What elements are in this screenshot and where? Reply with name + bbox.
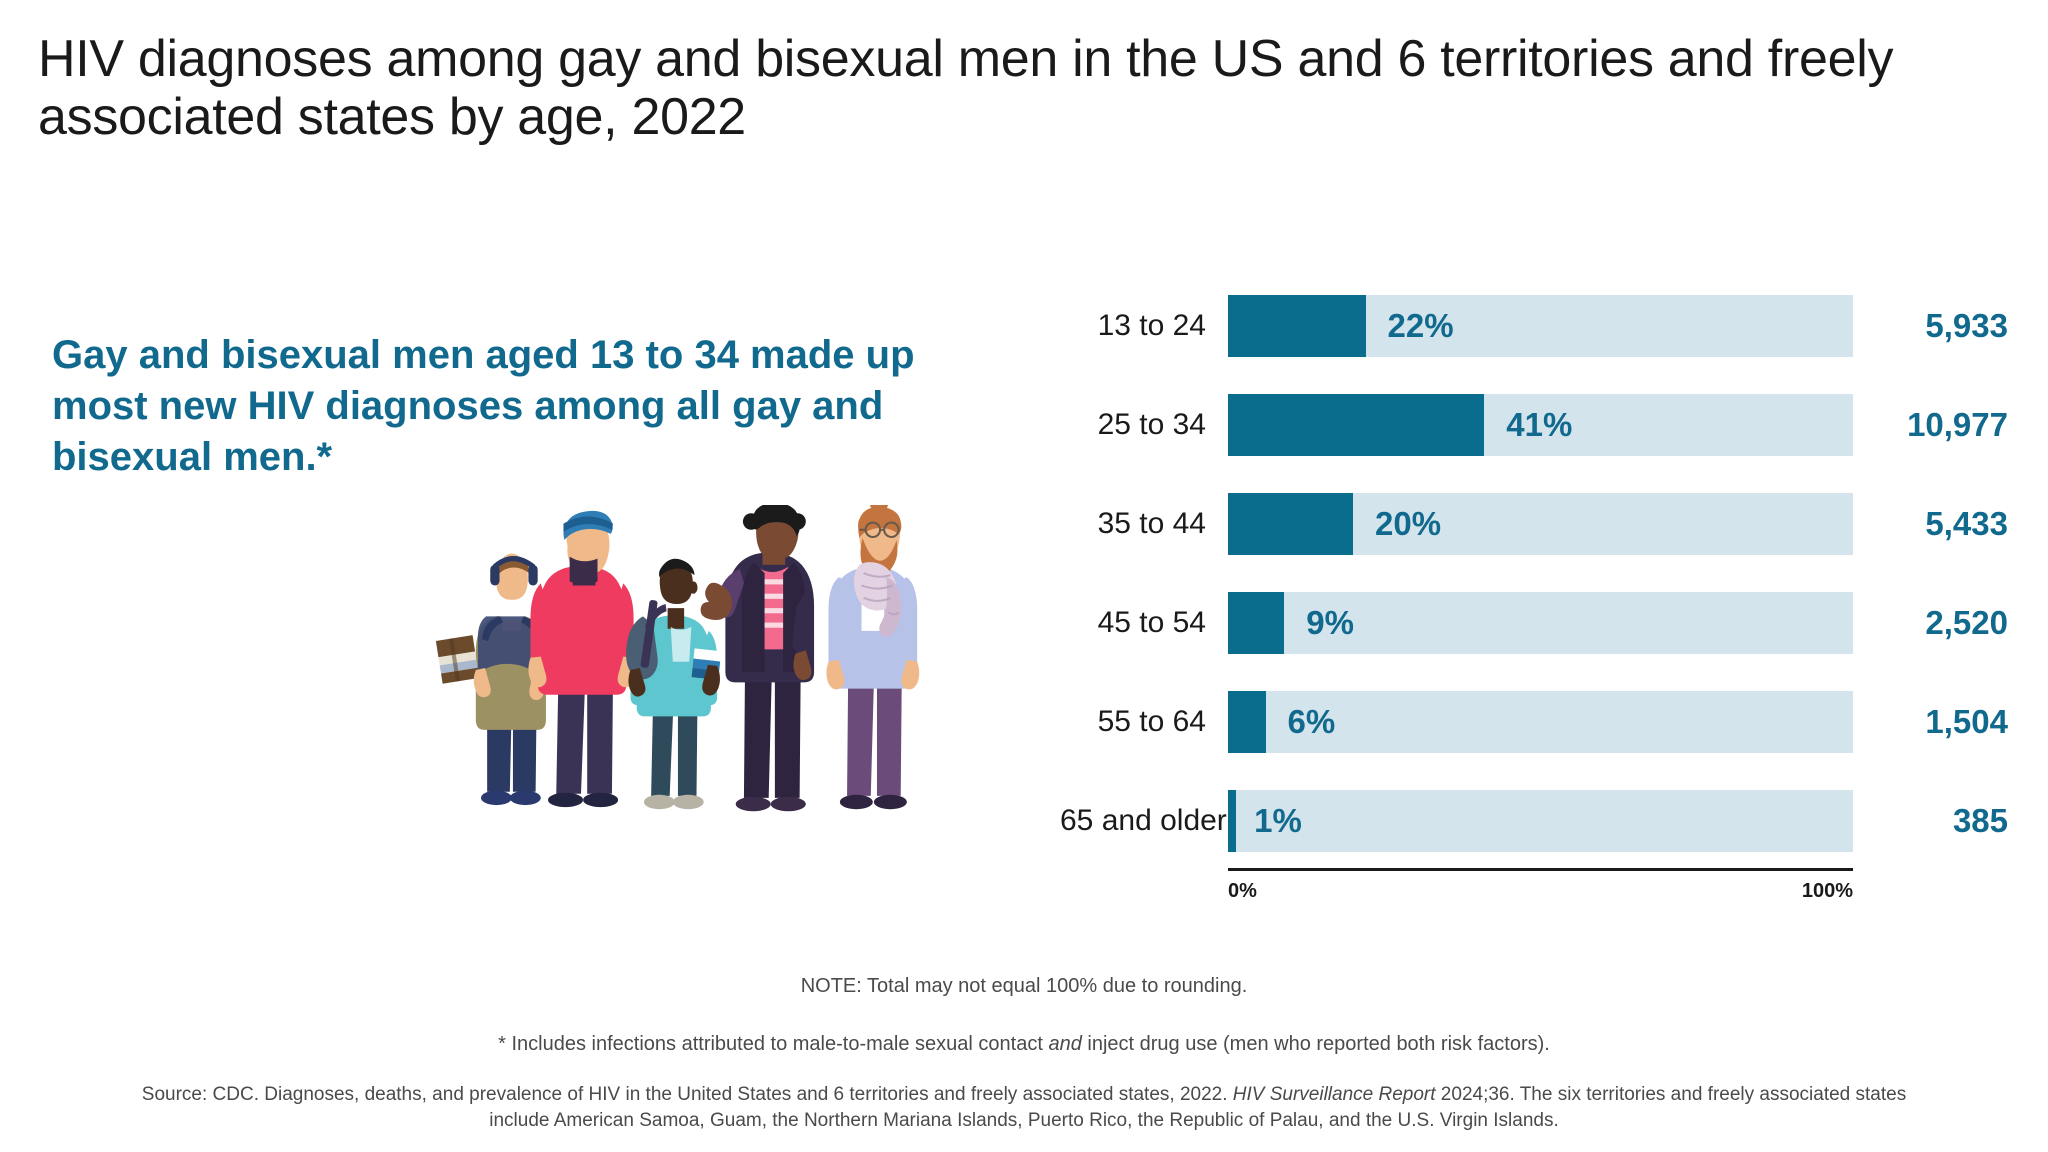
person-5-icon <box>826 505 919 809</box>
note-asterisk-post: inject drug use (men who reported both r… <box>1082 1033 1550 1055</box>
bar-fill-1 <box>1228 394 1484 456</box>
note-source-pre: Source: CDC. Diagnoses, deaths, and prev… <box>142 1084 1233 1105</box>
category-label-2: 35 to 44 <box>1060 507 1228 541</box>
category-label-1: 25 to 34 <box>1060 408 1228 442</box>
page-title: HIV diagnoses among gay and bisexual men… <box>38 30 1918 146</box>
bar-chart: 13 to 24 22% 5,933 25 to 34 41% 10,977 3… <box>1060 290 2020 890</box>
bar-fill-3 <box>1228 592 1284 654</box>
count-label-2: 5,433 <box>1853 505 2020 543</box>
bar-value-label-4: 6% <box>1288 703 1336 741</box>
chart-row-4: 55 to 64 6% 1,504 <box>1060 686 2020 758</box>
person-2-icon <box>528 511 635 807</box>
category-label-5: 65 and older <box>1060 804 1228 838</box>
count-label-5: 385 <box>1853 802 2020 840</box>
note-asterisk-em: and <box>1048 1033 1081 1055</box>
bar-track-3: 9% <box>1228 592 1853 654</box>
bar-value-label-0: 22% <box>1388 307 1454 345</box>
bar-track-0: 22% <box>1228 295 1853 357</box>
count-label-1: 10,977 <box>1853 406 2020 444</box>
callout-text: Gay and bisexual men aged 13 to 34 made … <box>52 330 982 484</box>
chart-row-3: 45 to 54 9% 2,520 <box>1060 587 2020 659</box>
count-label-4: 1,504 <box>1853 703 2020 741</box>
bar-fill-5 <box>1228 790 1236 852</box>
bar-value-label-3: 9% <box>1306 604 1354 642</box>
category-label-0: 13 to 24 <box>1060 309 1228 343</box>
bar-value-label-2: 20% <box>1375 505 1441 543</box>
x-axis-line <box>1228 868 1853 871</box>
slide-root: HIV diagnoses among gay and bisexual men… <box>0 0 2048 1152</box>
bar-track-4: 6% <box>1228 691 1853 753</box>
category-label-3: 45 to 54 <box>1060 606 1228 640</box>
bar-fill-0 <box>1228 295 1366 357</box>
note-asterisk-pre: * Includes infections attributed to male… <box>498 1033 1048 1055</box>
chart-row-1: 25 to 34 41% 10,977 <box>1060 389 2020 461</box>
note-rounding: NOTE: Total may not equal 100% due to ro… <box>0 973 2048 1001</box>
note-asterisk: * Includes infections attributed to male… <box>0 1031 2048 1059</box>
bar-track-2: 20% <box>1228 493 1853 555</box>
person-1-icon <box>436 553 546 805</box>
chart-row-0: 13 to 24 22% 5,933 <box>1060 290 2020 362</box>
chart-row-5: 65 and older 1% 385 <box>1060 785 2020 857</box>
bar-value-label-1: 41% <box>1506 406 1572 444</box>
bar-fill-2 <box>1228 493 1353 555</box>
x-axis-tick-min: 0% <box>1228 880 1257 903</box>
category-label-4: 55 to 64 <box>1060 705 1228 739</box>
bar-track-1: 41% <box>1228 394 1853 456</box>
count-label-3: 2,520 <box>1853 604 2020 642</box>
x-axis-tick-max: 100% <box>1802 880 1853 903</box>
note-source: Source: CDC. Diagnoses, deaths, and prev… <box>0 1082 2048 1134</box>
people-illustration <box>420 505 940 835</box>
note-source-em: HIV Surveillance Report <box>1233 1084 1436 1105</box>
count-label-0: 5,933 <box>1853 307 2020 345</box>
chart-row-2: 35 to 44 20% 5,433 <box>1060 488 2020 560</box>
bar-value-label-5: 1% <box>1254 802 1302 840</box>
bar-fill-4 <box>1228 691 1266 753</box>
bar-track-5: 1% <box>1228 790 1853 852</box>
